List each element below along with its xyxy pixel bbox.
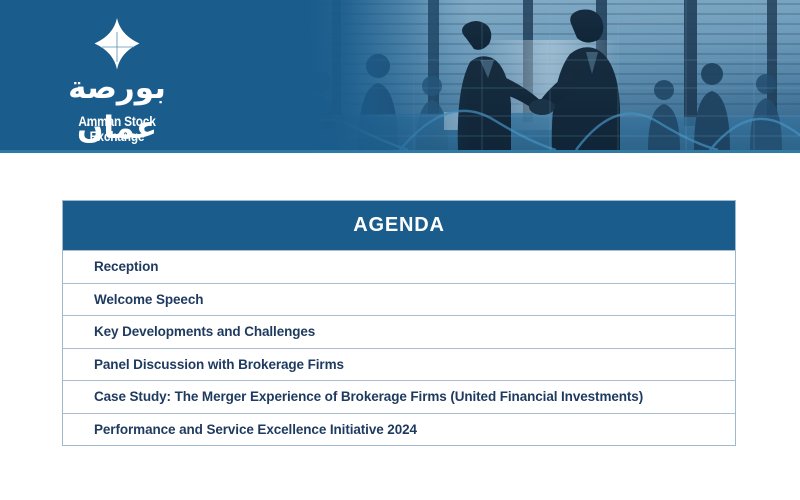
header-photo — [280, 0, 800, 153]
ase-logo: بورصة عمان Amman Stock Exchange — [42, 16, 192, 136]
agenda-row[interactable]: Reception — [63, 250, 735, 283]
agenda-row[interactable]: Performance and Service Excellence Initi… — [63, 413, 735, 446]
banner-bottom-edge — [0, 150, 800, 153]
header-banner: بورصة عمان Amman Stock Exchange — [0, 0, 800, 153]
agenda-row[interactable]: Case Study: The Merger Experience of Bro… — [63, 380, 735, 413]
agenda-item-label: Case Study: The Merger Experience of Bro… — [63, 389, 643, 404]
agenda-row[interactable]: Welcome Speech — [63, 283, 735, 316]
agenda-title: AGENDA — [63, 201, 735, 250]
agenda-item-label: Panel Discussion with Brokerage Firms — [63, 357, 344, 372]
agenda-item-label: Reception — [63, 259, 158, 274]
agenda-row[interactable]: Panel Discussion with Brokerage Firms — [63, 348, 735, 381]
agenda-item-label: Performance and Service Excellence Initi… — [63, 422, 417, 437]
logo-english-name: Amman Stock Exchange — [51, 114, 183, 144]
agenda-item-label: Key Developments and Challenges — [63, 324, 315, 339]
agenda-row[interactable]: Key Developments and Challenges — [63, 315, 735, 348]
agenda-table: AGENDA Reception Welcome Speech Key Deve… — [62, 200, 736, 446]
agenda-item-label: Welcome Speech — [63, 292, 203, 307]
four-point-star-icon — [94, 18, 140, 75]
